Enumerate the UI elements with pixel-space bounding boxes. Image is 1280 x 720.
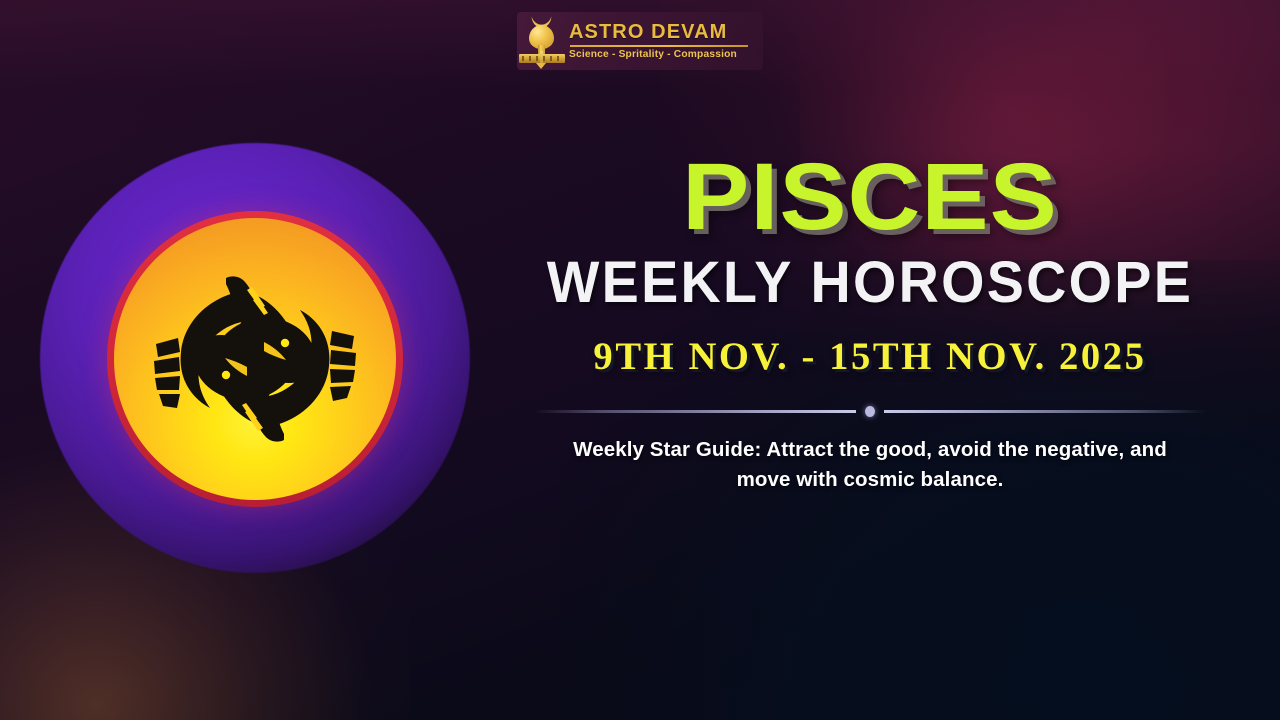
zodiac-sign-title: PISCES [469, 150, 1270, 245]
medallion-red-ring [107, 211, 403, 507]
divider-line-left [534, 410, 856, 413]
dot-divider-icon [534, 405, 1206, 417]
divider-dot [865, 406, 875, 417]
headline-block: PISCES WEEKLY HOROSCOPE 9TH NOV. - 15TH … [492, 150, 1248, 494]
brand-logo[interactable]: ASTRO DEVAM Science - Spritality - Compa… [517, 12, 763, 70]
zodiac-medallion [40, 143, 470, 573]
poster-canvas: ASTRO DEVAM Science - Spritality - Compa… [0, 0, 1280, 720]
brand-underline [570, 45, 748, 47]
subtitle-text: Weekly Star Guide: Attract the good, avo… [570, 435, 1170, 494]
brand-name: ASTRO DEVAM [569, 22, 759, 43]
brand-tagline: Science - Spritality - Compassion [569, 49, 759, 60]
date-range-label: 9TH NOV. - 15TH NOV. 2025 [496, 336, 1244, 379]
divider-line-right [884, 410, 1206, 413]
kalash-crescent-icon [519, 14, 565, 68]
pisces-two-fish-icon [114, 218, 396, 500]
brand-text-block: ASTRO DEVAM Science - Spritality - Compa… [565, 22, 759, 60]
medallion-gold-disc [114, 218, 396, 500]
page-title: WEEKLY HOROSCOPE [507, 253, 1233, 314]
emblem-tip-icon [536, 63, 546, 69]
